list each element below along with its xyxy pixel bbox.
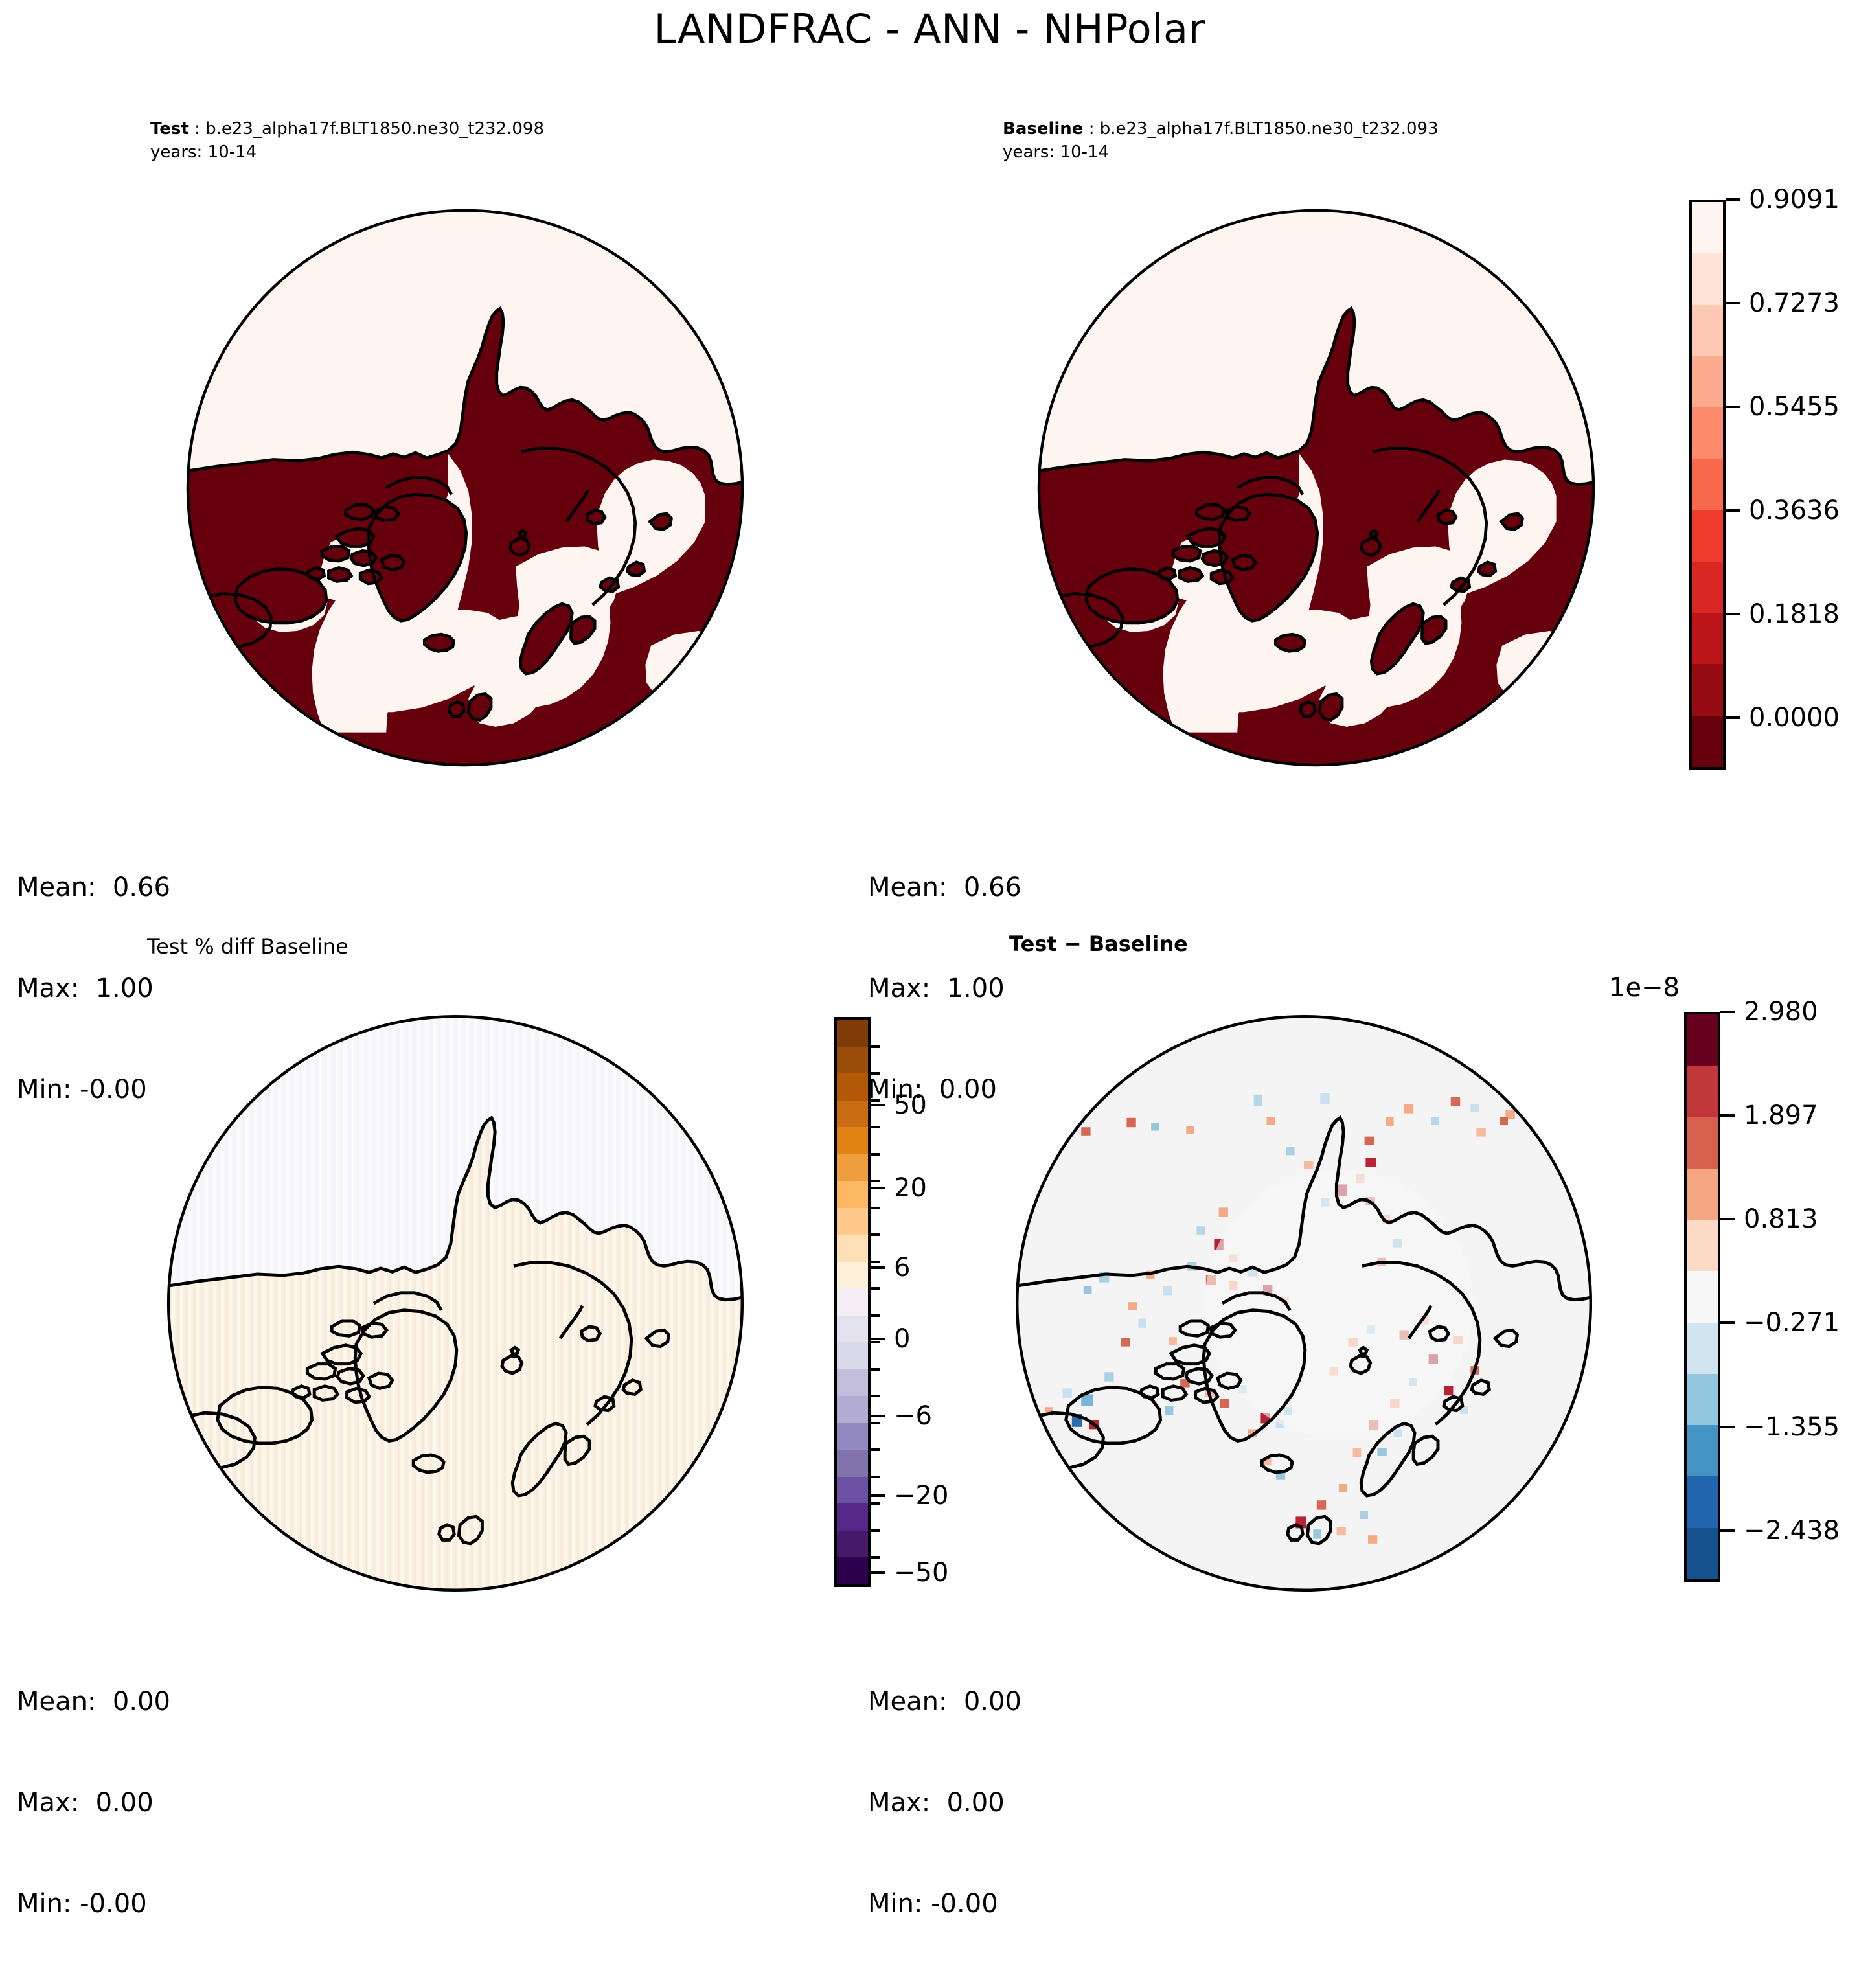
colorbar-minor-tick bbox=[871, 1368, 880, 1371]
baseline-panel-label: Baseline bbox=[1003, 119, 1083, 139]
colorbar-band bbox=[1692, 510, 1723, 562]
colorbar-band bbox=[837, 1154, 868, 1182]
colorbar-band bbox=[837, 1503, 868, 1531]
colorbar-band bbox=[1692, 664, 1723, 715]
colorbar-tick-label: 50 bbox=[894, 1090, 927, 1120]
colorbar-tick-label: −1.355 bbox=[1744, 1412, 1840, 1442]
colorbar-minor-tick bbox=[871, 1099, 880, 1102]
colorbar-pctdiff-bar bbox=[834, 1017, 871, 1587]
colorbar-band bbox=[1687, 1528, 1718, 1579]
colorbar-tick bbox=[871, 1571, 885, 1574]
colorbar-band bbox=[837, 1288, 868, 1316]
colorbar-minor-tick bbox=[871, 1448, 880, 1451]
colorbar-band bbox=[1687, 1425, 1718, 1476]
map-pctdiff-svg bbox=[164, 1005, 747, 1601]
colorbar-tick-label: −50 bbox=[894, 1558, 948, 1588]
colorbar-minor-tick bbox=[871, 1045, 880, 1048]
colorbar-band bbox=[1687, 1271, 1718, 1322]
colorbar-band bbox=[1687, 1014, 1718, 1066]
colorbar-tick-label: 2.980 bbox=[1744, 997, 1818, 1027]
colorbar-minor-tick bbox=[871, 1341, 880, 1343]
colorbar-band bbox=[1692, 407, 1723, 459]
colorbar-band bbox=[837, 1396, 868, 1423]
map-diff bbox=[1012, 1005, 1595, 1601]
colorbar-landfrac-bar bbox=[1689, 200, 1726, 770]
colorbar-band bbox=[837, 1181, 868, 1208]
colorbar-tick-label: −20 bbox=[894, 1481, 948, 1511]
colorbar-band bbox=[1687, 1169, 1718, 1220]
diff-stat-min: Min: -0.00 bbox=[868, 1887, 1021, 1921]
colorbar-diff[interactable]: 1e−8 2.9801.8970.813−0.271−1.355−2.438 bbox=[1684, 1012, 1846, 1582]
pctdiff-panel-title: Test % diff Baseline bbox=[147, 934, 348, 959]
colorbar-band bbox=[837, 1235, 868, 1262]
colorbar-minor-tick bbox=[871, 1395, 880, 1397]
colorbar-tick bbox=[1720, 1218, 1735, 1220]
colorbar-minor-tick bbox=[871, 1287, 880, 1290]
colorbar-tick-label: 0.1818 bbox=[1749, 599, 1840, 629]
map-test bbox=[183, 167, 747, 808]
test-stat-mean: Mean: 0.66 bbox=[17, 871, 170, 904]
colorbar-tick bbox=[871, 1266, 885, 1269]
colorbar-band bbox=[837, 1477, 868, 1504]
test-stats: Mean: 0.66 Max: 1.00 Min: -0.00 bbox=[17, 803, 170, 1174]
colorbar-tick-label: 0.813 bbox=[1744, 1204, 1818, 1234]
colorbar-band bbox=[837, 1531, 868, 1558]
colorbar-tick bbox=[871, 1187, 885, 1189]
colorbar-band bbox=[1687, 1117, 1718, 1169]
pctdiff-stat-max: Max: 0.00 bbox=[17, 1786, 170, 1820]
colorbar-band bbox=[1687, 1323, 1718, 1374]
map-pctdiff bbox=[164, 1005, 747, 1601]
colorbar-tick bbox=[1726, 716, 1740, 719]
colorbar-band bbox=[1692, 716, 1723, 767]
colorbar-diff-bar bbox=[1684, 1012, 1720, 1582]
baseline-panel-header: Baseline : b.e23_alpha17f.BLT1850.ne30_t… bbox=[1003, 118, 1439, 165]
diff-stats: Mean: 0.00 Max: 0.00 Min: -0.00 bbox=[868, 1617, 1021, 1988]
test-panel-label: Test bbox=[150, 119, 189, 139]
diff-panel-title: Test − Baseline bbox=[1009, 931, 1188, 956]
colorbar-minor-tick bbox=[871, 1502, 880, 1505]
map-diff-svg bbox=[1012, 1005, 1595, 1601]
colorbar-pctdiff[interactable]: 502060−6−20−50 bbox=[834, 1017, 977, 1587]
pctdiff-stat-mean: Mean: 0.00 bbox=[17, 1685, 170, 1719]
colorbar-minor-tick bbox=[871, 1261, 880, 1263]
colorbar-band bbox=[1692, 356, 1723, 407]
colorbar-band bbox=[837, 1208, 868, 1235]
colorbar-band bbox=[837, 1316, 868, 1343]
colorbar-tick-label: −2.438 bbox=[1744, 1516, 1840, 1546]
figure-canvas: LANDFRAC - ANN - NHPolar Test : b.e23_al… bbox=[0, 0, 1859, 1728]
colorbar-band bbox=[837, 1342, 868, 1369]
baseline-panel-sep: : bbox=[1083, 119, 1099, 139]
colorbar-tick bbox=[1720, 1426, 1735, 1428]
colorbar-tick-label: −6 bbox=[894, 1401, 932, 1431]
colorbar-band bbox=[1692, 613, 1723, 664]
colorbar-band bbox=[1692, 202, 1723, 253]
test-stat-max: Max: 1.00 bbox=[17, 972, 170, 1005]
baseline-stat-max: Max: 1.00 bbox=[868, 972, 1021, 1005]
colorbar-minor-tick bbox=[871, 1233, 880, 1236]
colorbar-tick bbox=[871, 1104, 885, 1106]
colorbar-minor-tick bbox=[871, 1126, 880, 1128]
colorbar-minor-tick bbox=[871, 1314, 880, 1317]
colorbar-band bbox=[1687, 1374, 1718, 1425]
colorbar-tick-label: 0.3636 bbox=[1749, 496, 1840, 525]
colorbar-band bbox=[837, 1369, 868, 1397]
colorbar-tick bbox=[1720, 1529, 1735, 1532]
colorbar-minor-tick bbox=[871, 1529, 880, 1532]
colorbar-band bbox=[837, 1020, 868, 1047]
test-panel-header: Test : b.e23_alpha17f.BLT1850.ne30_t232.… bbox=[150, 118, 544, 165]
baseline-stat-mean: Mean: 0.66 bbox=[868, 871, 1021, 904]
pctdiff-stats: Mean: 0.00 Max: 0.00 Min: -0.00 bbox=[17, 1617, 170, 1988]
colorbar-minor-tick bbox=[871, 1476, 880, 1478]
colorbar-tick bbox=[871, 1494, 885, 1497]
figure-suptitle: LANDFRAC - ANN - NHPolar bbox=[0, 5, 1859, 52]
test-panel-case: b.e23_alpha17f.BLT1850.ne30_t232.098 bbox=[205, 119, 544, 139]
colorbar-diff-offset: 1e−8 bbox=[1609, 973, 1680, 1003]
colorbar-tick bbox=[1720, 1114, 1735, 1117]
colorbar-band bbox=[837, 1450, 868, 1477]
colorbar-minor-tick bbox=[871, 1180, 880, 1182]
colorbar-minor-tick bbox=[871, 1072, 880, 1075]
map-baseline bbox=[1034, 167, 1598, 808]
colorbar-minor-tick bbox=[871, 1556, 880, 1559]
colorbar-band bbox=[837, 1262, 868, 1289]
colorbar-tick-label: 0.0000 bbox=[1749, 703, 1840, 733]
colorbar-band bbox=[837, 1047, 868, 1074]
colorbar-tick bbox=[1720, 1011, 1735, 1013]
test-stat-min: Min: -0.00 bbox=[17, 1073, 170, 1106]
colorbar-tick-label: 0.5455 bbox=[1749, 392, 1840, 422]
colorbar-tick-label: 1.897 bbox=[1744, 1101, 1818, 1130]
colorbar-tick bbox=[1726, 198, 1740, 201]
colorbar-tick bbox=[871, 1415, 885, 1417]
colorbar-band bbox=[1692, 305, 1723, 356]
colorbar-tick bbox=[1720, 1321, 1735, 1324]
map-baseline-svg bbox=[1034, 167, 1598, 808]
colorbar-band bbox=[837, 1127, 868, 1154]
colorbar-tick-label: 0.7273 bbox=[1749, 288, 1840, 318]
colorbar-band bbox=[1692, 253, 1723, 304]
colorbar-band bbox=[1687, 1066, 1718, 1117]
colorbar-band bbox=[837, 1101, 868, 1128]
colorbar-tick bbox=[1726, 302, 1740, 304]
colorbar-tick bbox=[1726, 613, 1740, 615]
colorbar-band bbox=[1687, 1476, 1718, 1527]
colorbar-minor-tick bbox=[871, 1153, 880, 1156]
test-panel-sep: : bbox=[189, 119, 205, 139]
colorbar-landfrac[interactable]: 0.00000.18180.36360.54550.72730.9091 bbox=[1689, 200, 1851, 770]
colorbar-band bbox=[1687, 1220, 1718, 1271]
colorbar-tick-label: 20 bbox=[894, 1173, 927, 1203]
colorbar-band bbox=[837, 1557, 868, 1584]
colorbar-tick bbox=[871, 1338, 885, 1340]
colorbar-minor-tick bbox=[871, 1422, 880, 1424]
colorbar-minor-tick bbox=[871, 1207, 880, 1209]
colorbar-band bbox=[837, 1073, 868, 1101]
colorbar-tick bbox=[1726, 509, 1740, 512]
diff-stat-max: Max: 0.00 bbox=[868, 1786, 1021, 1820]
colorbar-tick-label: −0.271 bbox=[1744, 1308, 1840, 1338]
map-test-svg bbox=[183, 167, 747, 808]
baseline-panel-years: years: 10-14 bbox=[1003, 141, 1439, 165]
colorbar-band bbox=[1692, 459, 1723, 510]
colorbar-tick-label: 0 bbox=[894, 1324, 910, 1354]
baseline-panel-case: b.e23_alpha17f.BLT1850.ne30_t232.093 bbox=[1100, 119, 1439, 139]
colorbar-band bbox=[837, 1423, 868, 1450]
colorbar-band bbox=[1692, 562, 1723, 613]
diff-stat-mean: Mean: 0.00 bbox=[868, 1685, 1021, 1719]
pctdiff-stat-min: Min: -0.00 bbox=[17, 1887, 170, 1921]
colorbar-tick bbox=[1726, 406, 1740, 408]
test-panel-years: years: 10-14 bbox=[150, 141, 544, 165]
colorbar-tick-label: 6 bbox=[894, 1253, 910, 1283]
colorbar-tick-label: 0.9091 bbox=[1749, 185, 1840, 214]
